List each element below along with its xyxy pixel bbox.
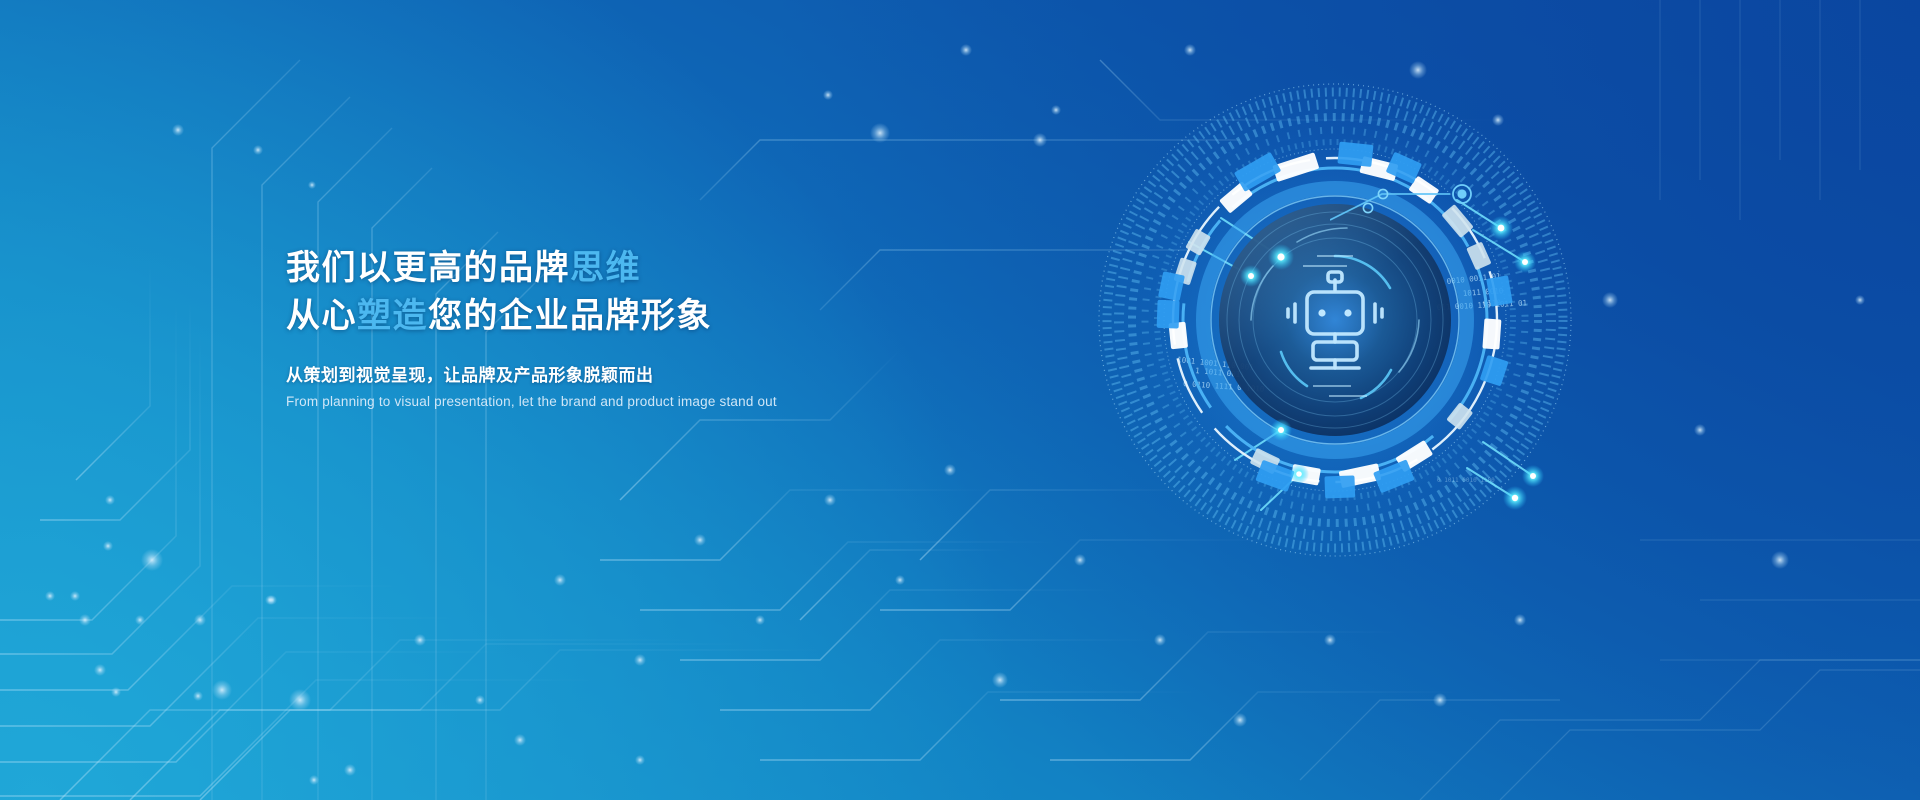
svg-text:0110: 0110 (1483, 298, 1502, 308)
subtitle-chinese: 从策划到视觉呈现，让品牌及产品形象脱颖而出 (286, 339, 1066, 388)
binary-overlay: 0010 0011 01 1011 0010 011 0010 110 1011… (1177, 271, 1528, 484)
hero-copy-block: 我们以更高的品牌思维 从心塑造您的企业品牌形象 从策划到视觉呈现，让品牌及产品形… (286, 245, 1066, 411)
headline-line-1-accent: 思维 (570, 249, 641, 287)
target-node-icon (1453, 185, 1471, 203)
svg-text:011 0010 110 1011 01: 011 0010 110 1011 01 (1437, 298, 1528, 312)
headline-line-2-accent: 塑造 (357, 297, 428, 335)
headline-line-1: 我们以更高的品牌思维 (286, 245, 1066, 291)
hud-tech-circle-graphic: 0010 0011 01 1011 0010 011 0010 110 1011… (1085, 70, 1585, 570)
headline-line-1-plain: 我们以更高的品牌 (286, 249, 570, 287)
svg-text:1011 0010: 1011 0010 (1463, 286, 1505, 298)
headline-line-2: 从心塑造您的企业品牌形象 (286, 293, 1066, 339)
circuit-connector (1330, 160, 1510, 240)
hud-ring-segments (1157, 142, 1513, 499)
svg-text:0 1011 0010 1100: 0 1011 0010 1100 (1437, 477, 1495, 484)
svg-text:1 1011 0011: 1 1011 0011 (1195, 366, 1245, 379)
svg-text:0 0110 1111 0 1010: 0 0110 1111 0 1010 (1183, 379, 1265, 394)
headline-line-2-plain-after: 您的企业品牌形象 (428, 297, 712, 335)
svg-text:1001 1001 110 001: 1001 1001 110 001 (1177, 355, 1254, 372)
hero-banner: 0010 0011 01 1011 0010 011 0010 110 1011… (0, 0, 1920, 800)
robot-icon (1288, 272, 1382, 368)
subtitle-english: From planning to visual presentation, le… (286, 388, 1066, 411)
headline-line-2-plain-before: 从心 (286, 297, 357, 335)
hud-outer-ring (1173, 158, 1497, 482)
hud-glow-nodes (1240, 216, 1544, 510)
svg-text:0010 0011 01: 0010 0011 01 (1446, 271, 1501, 286)
